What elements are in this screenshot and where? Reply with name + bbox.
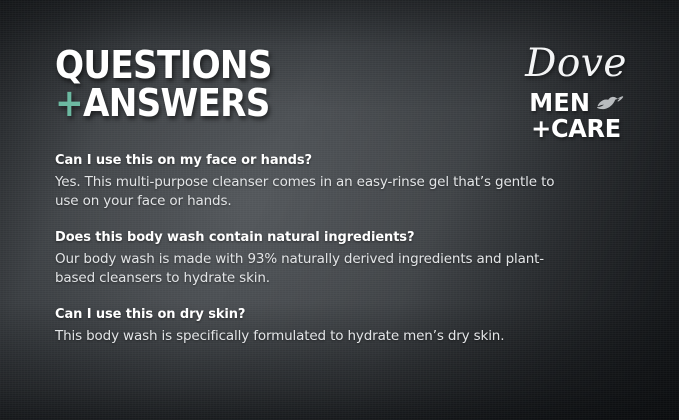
plus-symbol-icon: + xyxy=(55,81,83,125)
qa-block: Can I use this on dry skin? This body wa… xyxy=(55,306,565,346)
dove-bird-icon xyxy=(594,94,624,112)
page-title: QUESTIONS +ANSWERS xyxy=(55,48,296,121)
title-answers-text: ANSWERS xyxy=(83,81,270,125)
logo-men-text: MEN xyxy=(529,90,590,115)
logo-brand-wordmark: Dove xyxy=(512,44,640,83)
qa-list: Can I use this on my face or hands? Yes.… xyxy=(55,152,565,346)
logo-care-text: +CARE xyxy=(515,116,638,141)
qa-question: Can I use this on my face or hands? xyxy=(55,152,565,171)
qa-question: Does this body wash contain natural ingr… xyxy=(55,229,565,248)
qa-slide: QUESTIONS +ANSWERS Dove MEN +CARE Can I … xyxy=(0,0,679,420)
title-line-answers: +ANSWERS xyxy=(55,86,272,122)
dove-mencare-logo: Dove MEN +CARE xyxy=(512,44,640,141)
qa-block: Does this body wash contain natural ingr… xyxy=(55,229,565,288)
qa-answer: Our body wash is made with 93% naturally… xyxy=(55,250,555,288)
qa-answer: Yes. This multi-purpose cleanser comes i… xyxy=(55,173,555,211)
logo-men-row: MEN xyxy=(512,90,640,115)
qa-question: Can I use this on dry skin? xyxy=(55,306,565,325)
title-line-questions: QUESTIONS xyxy=(55,48,272,84)
qa-block: Can I use this on my face or hands? Yes.… xyxy=(55,152,565,211)
qa-answer: This body wash is specifically formulate… xyxy=(55,327,555,346)
